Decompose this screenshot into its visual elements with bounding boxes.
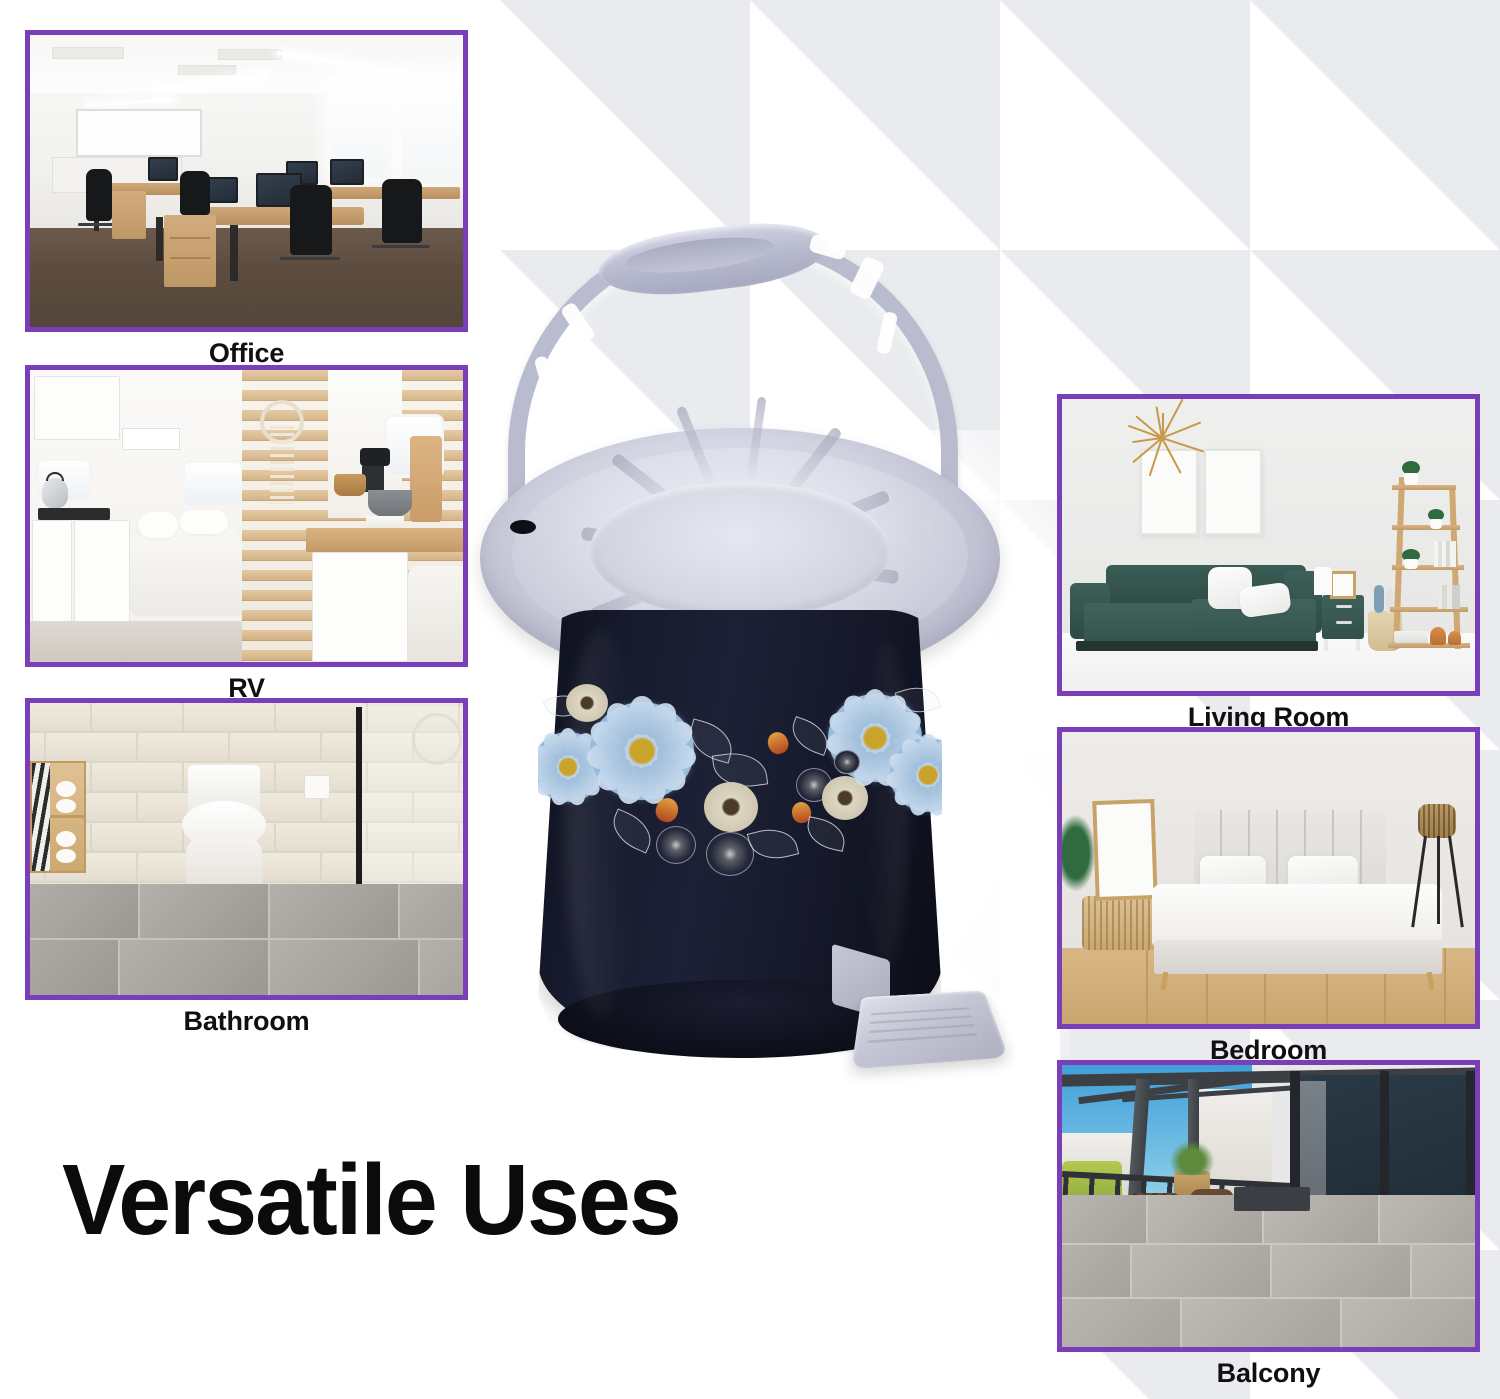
scene-bathroom — [30, 703, 463, 995]
floral-bud — [764, 729, 791, 757]
balcony-floor-tile — [1412, 1245, 1475, 1299]
office-whiteboard — [76, 109, 202, 157]
photo-frame-bedroom — [1057, 727, 1480, 1029]
living-room-books — [1438, 585, 1460, 609]
dustbin-floral-print — [538, 680, 942, 910]
balcony-floor-tile — [1342, 1299, 1475, 1347]
rv-shelf — [122, 428, 180, 450]
bathroom-tile — [230, 733, 322, 761]
living-room-figurine — [1430, 627, 1446, 645]
office-chair-base — [372, 245, 430, 248]
living-room-plant-pot — [1404, 473, 1418, 485]
office-drawer-cabinet — [112, 191, 146, 239]
office-chair — [382, 179, 422, 243]
page-title: Versatile Uses — [62, 1150, 680, 1250]
bedroom-bed-base — [1154, 940, 1442, 974]
nightstand-leg — [1324, 639, 1328, 651]
floral-leaf — [747, 823, 799, 865]
pedal-ridge — [868, 1033, 978, 1043]
rv-overhead-cabinet — [34, 376, 120, 440]
bathroom-mirror — [412, 713, 462, 765]
bathroom-tile — [92, 823, 184, 851]
photo-frame-rv — [25, 365, 468, 667]
bathroom-floor-tile — [140, 884, 270, 940]
office-chair — [290, 185, 332, 255]
living-room-books — [1434, 541, 1456, 567]
bedroom-leaning-artwork — [1092, 799, 1157, 901]
living-room-sofa-seat — [1084, 603, 1202, 645]
living-room-ladder-shelf — [1392, 485, 1456, 490]
office-monitor-screen — [206, 179, 236, 201]
rv-counter-cabinet — [312, 552, 408, 662]
bathroom-toilet-paper-holder — [304, 775, 330, 799]
bathroom-tile — [30, 703, 92, 731]
photo-label-balcony: Balcony — [1057, 1358, 1480, 1389]
office-chair — [180, 171, 210, 215]
living-room-vase — [1314, 567, 1332, 595]
bathroom-towel — [56, 849, 76, 863]
bedroom-plant — [1062, 814, 1096, 892]
rv-pillow — [180, 510, 228, 534]
living-room-tabletop-frame — [1330, 571, 1356, 599]
card-living-room: Living Room — [1057, 394, 1480, 733]
photo-frame-balcony — [1057, 1060, 1480, 1352]
dustbin-foot-pedal[interactable] — [851, 990, 1008, 1069]
bathroom-tile — [92, 763, 184, 791]
rv-macrame-fringe — [270, 426, 294, 504]
office-drawer-line — [170, 257, 210, 259]
bathroom-floor-tile — [270, 884, 400, 940]
bathroom-tile — [276, 703, 368, 731]
rv-kitchen-half — [30, 370, 242, 662]
office-chair-base — [280, 257, 340, 260]
living-room-wall-frame — [1204, 449, 1262, 535]
living-room-plant-pot — [1404, 559, 1418, 569]
office-window — [402, 73, 462, 183]
office-desk-leg — [230, 225, 238, 281]
scene-living-room — [1062, 399, 1475, 691]
rv-wood-half — [242, 370, 463, 662]
rv-bread-basket — [334, 474, 366, 496]
nightstand-leg — [1356, 639, 1360, 651]
balcony-floor-tile — [1062, 1245, 1132, 1299]
floral-blue-flower — [590, 702, 694, 800]
rv-floor — [30, 621, 242, 662]
balcony-floor-tile — [1380, 1195, 1475, 1245]
floral-leaf — [786, 716, 833, 756]
bathroom-towel — [56, 799, 76, 813]
bedroom-rattan-weave — [1082, 896, 1162, 950]
bathroom-floor-tile — [30, 884, 140, 940]
office-desk-leg — [156, 217, 163, 261]
office-drawer-cabinet — [164, 215, 216, 287]
living-room-wall-frame — [1140, 449, 1198, 535]
card-balcony: Balcony — [1057, 1060, 1480, 1389]
balcony-floor — [1062, 1195, 1475, 1347]
living-room-stacked-books — [1394, 631, 1428, 643]
floral-dark-flower — [706, 832, 754, 876]
balcony-floor-tile — [1062, 1299, 1182, 1347]
rv-kettle — [42, 478, 68, 508]
card-bathroom: Bathroom — [25, 698, 468, 1037]
office-monitor-screen — [332, 161, 362, 183]
card-rv: RV — [25, 365, 468, 704]
office-ceiling-panel — [52, 47, 124, 59]
living-room-figurine — [1448, 631, 1461, 645]
floral-dark-flower — [834, 750, 860, 774]
balcony-door-mat — [1234, 1187, 1310, 1211]
bedroom-lamp-weave — [1418, 804, 1456, 838]
office-ceiling — [30, 35, 463, 93]
balcony-floor-tile — [1182, 1299, 1342, 1347]
product-pedal-dustbin — [470, 210, 1040, 1120]
bedroom-floor-plank — [1092, 948, 1148, 1024]
rv-base-cabinet — [32, 520, 72, 630]
bedroom-duvet — [1152, 884, 1442, 946]
photo-label-bathroom: Bathroom — [25, 1006, 468, 1037]
photo-frame-living-room — [1057, 394, 1480, 696]
floral-dark-flower — [656, 826, 696, 864]
office-ceiling-panel — [218, 49, 282, 60]
dustbin-lid-inner-dome — [590, 482, 890, 618]
rv-base-cabinet — [74, 520, 130, 630]
rv-utensils — [360, 448, 390, 466]
living-room-nightstand — [1322, 595, 1364, 639]
pedal-ridge — [871, 1007, 970, 1015]
scene-office — [30, 35, 463, 327]
pedal-ridge — [870, 1015, 972, 1024]
rv-pillow — [138, 512, 178, 538]
balcony-floor-tile — [1132, 1245, 1272, 1299]
rv-window — [182, 460, 242, 508]
floral-leaf — [606, 808, 658, 853]
photo-frame-bathroom — [25, 698, 468, 1000]
scene-rv — [30, 370, 463, 662]
rv-stove — [38, 508, 110, 520]
bathroom-towel — [56, 831, 76, 847]
bathroom-towel — [56, 781, 76, 797]
bathroom-tile — [276, 823, 368, 851]
scene-bedroom — [1062, 732, 1475, 1024]
living-room-sofa-plinth — [1076, 641, 1318, 651]
card-bedroom: Bedroom — [1057, 727, 1480, 1066]
living-room-rolled-item — [1374, 585, 1384, 613]
office-chair — [86, 169, 112, 221]
nightstand-handle — [1336, 605, 1352, 608]
rv-cutting-board — [410, 436, 442, 522]
bathroom-floor-tile — [270, 940, 420, 995]
bathroom-tile — [138, 733, 230, 761]
photo-frame-office — [25, 30, 468, 332]
office-monitor-screen — [150, 159, 176, 179]
bathroom-floor-tile — [30, 940, 120, 995]
bedroom-lamp-leg — [1437, 836, 1440, 924]
balcony-floor-tile — [1062, 1195, 1148, 1245]
bathroom-tile — [46, 733, 138, 761]
office-ceiling-panel — [178, 65, 236, 75]
living-room-ladder-shelf — [1392, 525, 1460, 530]
pedal-ridge — [869, 1024, 975, 1033]
bathroom-striped-panel — [32, 763, 50, 871]
balcony-floor-tile — [1272, 1245, 1412, 1299]
bathroom-floor-tile — [420, 940, 463, 995]
nightstand-handle — [1336, 621, 1352, 624]
balcony-plant-foliage — [1170, 1141, 1214, 1175]
bathroom-floor-tile — [400, 884, 463, 940]
bathroom-tile — [184, 703, 276, 731]
scene-balcony — [1062, 1065, 1475, 1347]
bathroom-tile — [30, 733, 46, 761]
rv-bench — [408, 566, 463, 662]
floral-cream-flower — [566, 684, 608, 722]
floral-leaf — [804, 816, 849, 852]
card-office: Office — [25, 30, 468, 369]
rv-grey-bowls — [368, 490, 412, 518]
floral-cream-flower — [704, 782, 758, 832]
office-drawer-line — [170, 237, 210, 239]
bathroom-floor-tile — [120, 940, 270, 995]
bathroom-floor — [30, 884, 463, 995]
dustbin-hinge-pin — [510, 520, 536, 534]
living-room-plant-pot — [1430, 519, 1442, 529]
bathroom-tile — [92, 703, 184, 731]
rv-countertop — [306, 528, 463, 552]
